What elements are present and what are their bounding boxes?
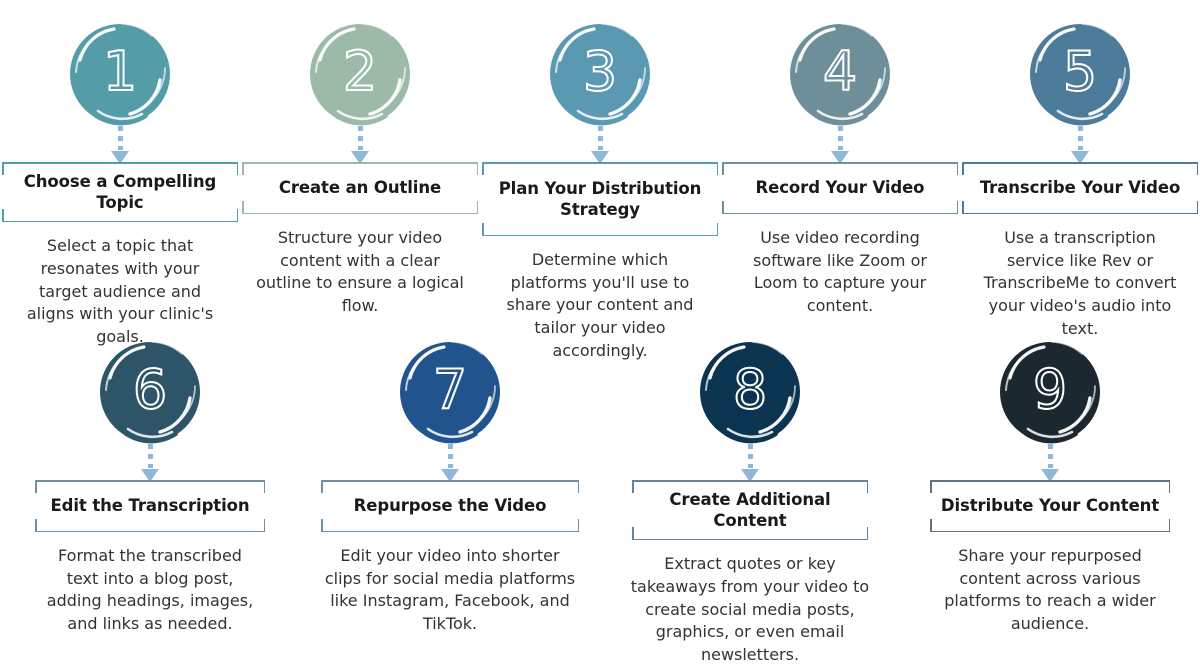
process-step-1: 1Choose a Compelling TopicSelect a topic… <box>0 18 240 349</box>
step-title-box: Create Additional Content <box>632 480 868 540</box>
step-description: Select a topic that resonates with your … <box>14 235 226 349</box>
box-edge-tl <box>2 162 4 175</box>
box-edge-br <box>867 527 869 540</box>
box-edge-tr <box>1197 162 1199 175</box>
dotted-line <box>1078 126 1083 150</box>
step-title: Plan Your Distribution Strategy <box>490 178 710 220</box>
box-edge-bl <box>35 519 37 532</box>
step-title: Edit the Transcription <box>50 495 249 516</box>
step-circle-5: 5 <box>1024 18 1136 130</box>
box-edge-tr <box>477 162 479 175</box>
box-edge-br <box>957 201 959 214</box>
box-edge-top <box>722 162 958 164</box>
box-edge-bottom <box>321 531 579 533</box>
step-title-box: Distribute Your Content <box>930 480 1170 532</box>
step-title-box: Choose a Compelling Topic <box>2 162 238 222</box>
down-arrow-icon <box>832 126 848 164</box>
box-edge-tl <box>242 162 244 175</box>
step-circle-6: 6 <box>94 336 206 448</box>
dotted-line <box>148 444 153 468</box>
box-edge-bottom <box>2 221 238 223</box>
dotted-line <box>118 126 123 150</box>
box-edge-tl <box>962 162 964 175</box>
box-edge-top <box>321 480 579 482</box>
step-title: Transcribe Your Video <box>980 177 1180 198</box>
step-title: Repurpose the Video <box>354 495 547 516</box>
box-edge-br <box>717 223 719 236</box>
step-circle-9: 9 <box>994 336 1106 448</box>
down-arrow-icon <box>1072 126 1088 164</box>
box-edge-bottom <box>632 539 868 541</box>
step-description: Format the transcribed text into a blog … <box>40 545 260 636</box>
step-title-box: Plan Your Distribution Strategy <box>482 162 718 236</box>
step-description: Share your repurposed content across var… <box>927 545 1173 636</box>
box-edge-bl <box>722 201 724 214</box>
step-description: Use a transcription service like Rev or … <box>974 227 1186 341</box>
step-circle-4: 4 <box>784 18 896 130</box>
box-edge-br <box>237 209 239 222</box>
step-title-box: Transcribe Your Video <box>962 162 1198 214</box>
box-edge-bl <box>2 209 4 222</box>
box-edge-br <box>264 519 266 532</box>
steps-row-bottom: 6Edit the TranscriptionFormat the transc… <box>0 336 1200 667</box>
step-title-box: Create an Outline <box>242 162 478 214</box>
step-circle-8: 8 <box>694 336 806 448</box>
step-title-box: Edit the Transcription <box>35 480 265 532</box>
process-step-3: 3Plan Your Distribution StrategyDetermin… <box>480 18 720 363</box>
box-edge-tl <box>722 162 724 175</box>
process-step-9: 9Distribute Your ContentShare your repur… <box>900 336 1200 636</box>
box-edge-top <box>35 480 265 482</box>
process-step-8: 8Create Additional ContentExtract quotes… <box>600 336 900 667</box>
box-edge-top <box>482 162 718 164</box>
box-edge-bottom <box>242 213 478 215</box>
box-edge-bottom <box>722 213 958 215</box>
step-circle-7: 7 <box>394 336 506 448</box>
box-edge-tr <box>957 162 959 175</box>
step-title: Create an Outline <box>279 177 441 198</box>
box-edge-bl <box>242 201 244 214</box>
box-edge-bottom <box>962 213 1198 215</box>
step-circle-3: 3 <box>544 18 656 130</box>
box-edge-tl <box>632 480 634 493</box>
dotted-line <box>838 126 843 150</box>
process-step-2: 2Create an OutlineStructure your video c… <box>240 18 480 318</box>
box-edge-top <box>962 162 1198 164</box>
box-edge-top <box>2 162 238 164</box>
box-edge-tr <box>717 162 719 175</box>
step-description: Extract quotes or key takeaways from you… <box>622 553 878 667</box>
down-arrow-icon <box>1042 444 1058 482</box>
step-circle-1: 1 <box>64 18 176 130</box>
box-edge-bl <box>962 201 964 214</box>
step-title: Choose a Compelling Topic <box>10 171 230 213</box>
step-description: Structure your video content with a clea… <box>254 227 466 318</box>
down-arrow-icon <box>112 126 128 164</box>
dotted-line <box>358 126 363 150</box>
box-edge-tr <box>264 480 266 493</box>
box-edge-bottom <box>930 531 1170 533</box>
box-edge-tr <box>237 162 239 175</box>
box-edge-bl <box>930 519 932 532</box>
steps-row-top: 1Choose a Compelling TopicSelect a topic… <box>0 18 1200 363</box>
step-description: Use video recording software like Zoom o… <box>737 227 943 318</box>
box-edge-br <box>1197 201 1199 214</box>
box-edge-tl <box>930 480 932 493</box>
dotted-line <box>448 444 453 468</box>
box-edge-tr <box>1169 480 1171 493</box>
step-title: Distribute Your Content <box>941 495 1159 516</box>
box-edge-br <box>578 519 580 532</box>
dotted-line <box>748 444 753 468</box>
step-title: Create Additional Content <box>640 489 860 531</box>
box-edge-tl <box>35 480 37 493</box>
process-step-6: 6Edit the TranscriptionFormat the transc… <box>0 336 300 636</box>
box-edge-bl <box>632 527 634 540</box>
process-infographic: 1Choose a Compelling TopicSelect a topic… <box>0 0 1200 630</box>
box-edge-tl <box>482 162 484 175</box>
down-arrow-icon <box>592 126 608 164</box>
box-edge-top <box>242 162 478 164</box>
dotted-line <box>598 126 603 150</box>
step-title-box: Repurpose the Video <box>321 480 579 532</box>
box-edge-br <box>477 201 479 214</box>
box-edge-br <box>1169 519 1171 532</box>
down-arrow-icon <box>742 444 758 482</box>
box-edge-tr <box>578 480 580 493</box>
step-title: Record Your Video <box>756 177 925 198</box>
down-arrow-icon <box>442 444 458 482</box>
step-circle-2: 2 <box>304 18 416 130</box>
box-edge-bl <box>321 519 323 532</box>
process-step-4: 4Record Your VideoUse video recording so… <box>720 18 960 318</box>
down-arrow-icon <box>142 444 158 482</box>
box-edge-bl <box>482 223 484 236</box>
step-description: Edit your video into shorter clips for s… <box>324 545 576 636</box>
process-step-7: 7Repurpose the VideoEdit your video into… <box>300 336 600 636</box>
dotted-line <box>1048 444 1053 468</box>
box-edge-bottom <box>482 235 718 237</box>
box-edge-top <box>930 480 1170 482</box>
box-edge-top <box>632 480 868 482</box>
box-edge-bottom <box>35 531 265 533</box>
box-edge-tr <box>867 480 869 493</box>
process-step-5: 5Transcribe Your VideoUse a transcriptio… <box>960 18 1200 341</box>
step-title-box: Record Your Video <box>722 162 958 214</box>
down-arrow-icon <box>352 126 368 164</box>
box-edge-tl <box>321 480 323 493</box>
